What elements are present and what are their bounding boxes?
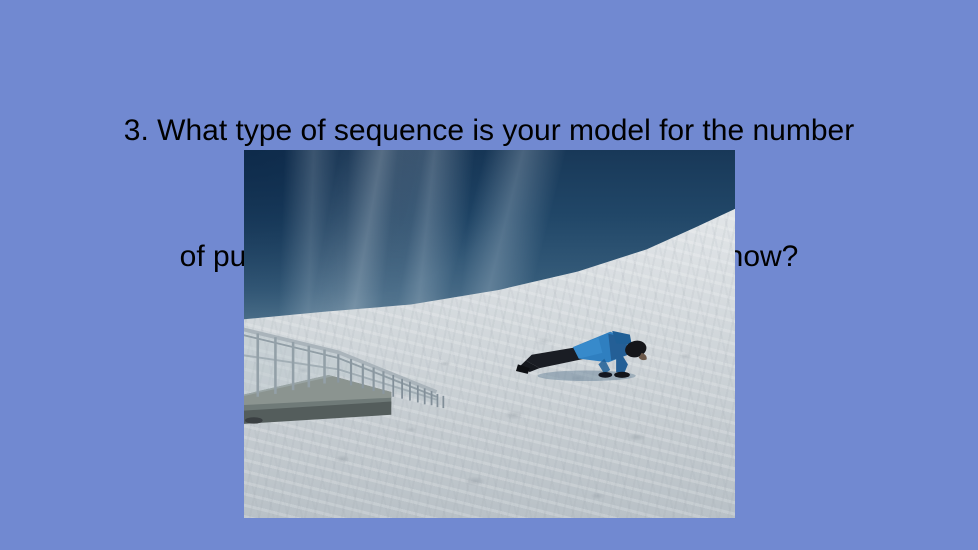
pushup-photo (244, 150, 735, 518)
person-doing-pushup (514, 305, 661, 401)
question-line-1: 3. What type of sequence is your model f… (60, 110, 918, 152)
slide-canvas: 3. What type of sequence is your model f… (0, 0, 978, 550)
walkway-railing (244, 305, 480, 437)
